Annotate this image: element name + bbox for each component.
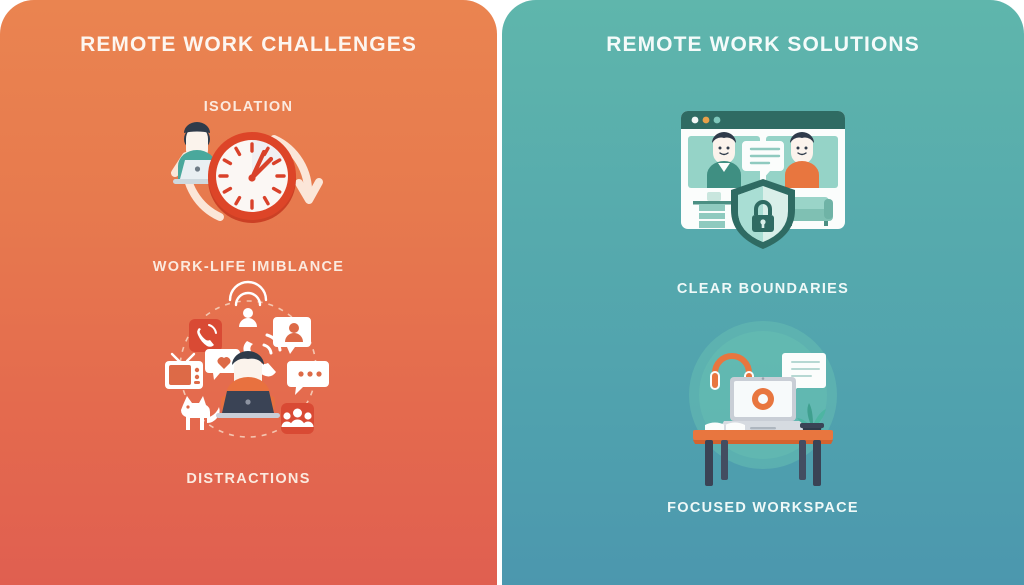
caption-distractions: DISTRACTIONS: [186, 471, 310, 487]
infographic-root: REMOTE WORK CHALLENGES ISOLATION: [0, 0, 1024, 585]
video-call-shield-icon: [673, 105, 853, 255]
caption-isolation: ISOLATION: [204, 99, 294, 115]
caption-focused-workspace: FOCUSED WORKSPACE: [667, 500, 859, 516]
clock-person-icon: [156, 119, 341, 237]
page-title-solutions: REMOTE WORK SOLUTIONS: [606, 33, 920, 57]
page-title-challenges: REMOTE WORK CHALLENGES: [80, 33, 417, 57]
panel-challenges: REMOTE WORK CHALLENGES ISOLATION: [0, 0, 497, 585]
desk-workspace-icon: [679, 315, 847, 480]
distraction-ring-icon: [151, 291, 346, 451]
caption-work-life-imbalance: WORK-LIFE IMIBLANCE: [153, 259, 344, 275]
caption-clear-boundaries: CLEAR BOUNDARIES: [677, 281, 849, 297]
panel-solutions: REMOTE WORK SOLUTIONS: [502, 0, 1024, 585]
